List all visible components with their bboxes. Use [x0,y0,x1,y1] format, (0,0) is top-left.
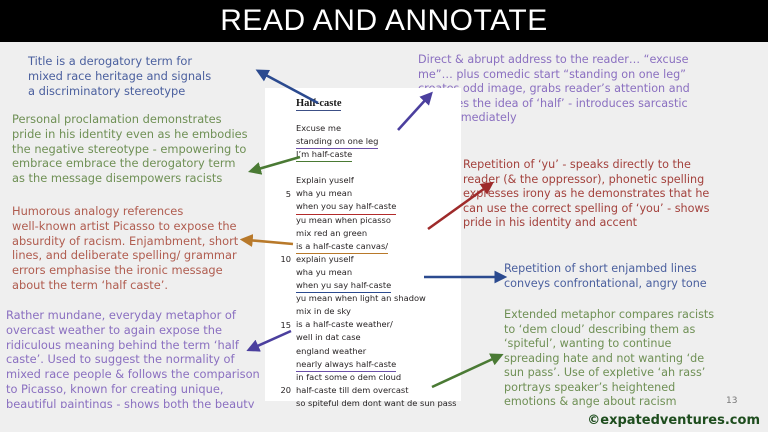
page-number: 13 [726,396,737,406]
arrow-picasso-to-line [247,240,293,244]
arrow-title-to-note [262,73,318,103]
slide: READ AND ANNOTATE Title is a derogatory … [0,0,768,432]
arrow-cloud-to-line [432,357,497,387]
arrow-yu-to-line [428,186,488,229]
annotation-arrows [0,0,768,432]
arrow-weather-to-line [253,331,291,348]
arrow-direct-to-line [398,97,428,130]
arrow-proclamation-to-line [255,157,300,170]
watermark: ©expatedventures.com [587,413,760,428]
